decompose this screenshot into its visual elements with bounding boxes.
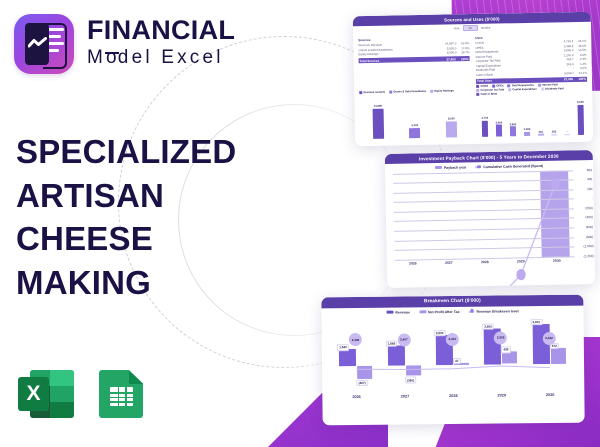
payback-plot-area: 600400200-(200)(400)(600)(800)(1,000)(1,…	[393, 170, 575, 259]
payback-line-series	[393, 170, 576, 288]
bar-column: 9,009	[577, 95, 585, 135]
bar-column: 1,262	[523, 96, 531, 136]
excel-x-glyph: X	[18, 377, 49, 411]
brand-name-line1: FINANCIAL	[87, 17, 235, 44]
legend-payback-year: Payback year	[435, 165, 466, 170]
investment-payback-card[interactable]: Investment Payback Chart ($'000) - 5 Yea…	[385, 150, 596, 288]
bar	[409, 128, 420, 138]
bar	[496, 125, 502, 137]
sources-total-pct: 100%	[456, 57, 469, 61]
y-tick-label: (200)	[585, 206, 593, 210]
page-title-line-4: MAKING	[16, 261, 236, 305]
page-title-line-2: ARTISAN	[16, 174, 236, 218]
legend-item: COGS	[476, 84, 488, 87]
legend-item: Revenue receipts	[359, 86, 385, 97]
bar-value-label: 14,899	[374, 105, 382, 108]
bar-value-label: -	[567, 130, 568, 133]
bar-column: 4,719	[481, 96, 489, 136]
bar	[551, 134, 557, 135]
breakeven-line-series	[332, 317, 576, 425]
legend-cumulative-cash: Cumulative Cash Generated (Spent)	[475, 164, 543, 169]
y-tick-label: (400)	[585, 215, 593, 219]
sources-legend: Revenue receiptsGrants & Debt DrawdownsE…	[359, 85, 470, 98]
legend-item: Interest Paid	[538, 83, 558, 86]
financial-document-chart-icon	[14, 14, 74, 74]
y-tick-label: (1,200)	[584, 254, 594, 258]
y-tick-label: 400	[587, 177, 592, 181]
bar-value-label: 9,009	[577, 101, 584, 104]
bar-column: 3,469	[495, 96, 503, 136]
bar-column: 5,000	[409, 98, 421, 138]
legend-item: Grants & Debt Drawdowns	[389, 86, 426, 98]
filter-value[interactable]: All	[463, 25, 478, 31]
sources-bar-chart: 14,8995,0008,000	[359, 97, 470, 139]
brand-text: FINANCIAL Model Excel	[87, 17, 235, 72]
legend-item: OPEX	[492, 84, 504, 87]
filter-suffix: months	[481, 26, 491, 30]
bar	[482, 121, 488, 137]
bar-column: 464	[537, 95, 544, 135]
brand-logo: FINANCIAL Model Excel	[14, 14, 235, 74]
y-tick-label: (1,000)	[583, 244, 593, 248]
legend-item: Dividends Paid	[541, 87, 564, 90]
bar-value-label: 262	[552, 131, 557, 134]
sources-column: Sources Revenue Receipts14,897.063.9%Gra…	[358, 36, 470, 86]
legend-item: Debt Repayments	[508, 84, 534, 88]
uses-total-value: 27,400	[556, 77, 573, 81]
breakeven-card[interactable]: Breakeven Chart ($'000) Revenue Net Prof…	[321, 295, 584, 426]
bar	[524, 131, 530, 135]
bar	[577, 105, 584, 135]
poster-canvas: FINANCIAL Model Excel SPECIALIZEDARTISAN…	[0, 0, 600, 447]
uses-total-label: Total Uses	[477, 78, 556, 84]
microsoft-excel-icon[interactable]: X	[18, 366, 74, 422]
bar-column: 14,899	[372, 98, 384, 138]
page-title-line-1: SPECIALIZED	[16, 130, 236, 174]
bar	[538, 134, 544, 136]
uses-column: Uses COGS4,719.424.1%OPEX3,468.818.6%Deb…	[475, 34, 587, 84]
uses-legend: COGSOPEXDebt RepaymentsInterest PaidCorp…	[476, 83, 587, 96]
filter-label: Year	[454, 26, 460, 30]
y-tick-label: 600	[587, 168, 592, 172]
legend-item: Capital Expenditure	[508, 88, 537, 92]
brand-line2-suffix: del Excel	[118, 44, 224, 72]
legend-breakeven-level: Revenue Breakeven level	[469, 309, 519, 314]
bar	[446, 121, 457, 137]
sources-and-uses-card[interactable]: Sources and Uses ($'000) Year All months…	[353, 12, 593, 147]
bar-column: 8,000	[445, 97, 457, 137]
bar-column: 262	[550, 95, 557, 135]
bar-value-label: 1,262	[524, 128, 531, 131]
legend-revenue: Revenue	[386, 310, 410, 314]
breakeven-legend: Revenue Net Profit After Tax Revenue Bre…	[321, 306, 583, 316]
y-tick-label: 200	[587, 187, 592, 191]
legend-net-profit: Net Profit After Tax	[419, 309, 460, 313]
y-tick-label: (600)	[586, 225, 594, 229]
y-tick-label: -	[592, 196, 593, 200]
uses-total-pct: 100%	[573, 77, 586, 81]
uses-bar-chart: 4,7193,4692,8921,262464262-9,009	[477, 95, 588, 137]
bar-column: -	[564, 95, 571, 135]
legend-item: Equity Raisings	[430, 85, 454, 96]
bar-value-label: 5,000	[411, 124, 418, 127]
sources-total-value: 27,400	[439, 57, 456, 61]
google-sheets-icon[interactable]	[97, 366, 147, 422]
page-title-line-3: CHEESE	[16, 217, 236, 261]
bar-column: 2,892	[509, 96, 517, 136]
sources-total-row: Total Sources 27,400 100%	[359, 56, 470, 63]
y-tick-label: (800)	[586, 235, 594, 239]
bar	[510, 126, 516, 136]
brand-name-line2: Model Excel	[87, 44, 235, 72]
legend-item: Cash in Bank	[476, 92, 497, 95]
breakeven-plot-area: 1,540(467)2,4381,848(390)2,4072,833472,4…	[332, 317, 575, 392]
brand-line2-prefix: M	[87, 44, 106, 72]
brand-o-glyph: o	[106, 44, 118, 72]
format-icons: X	[18, 366, 147, 422]
sources-total-label: Total Sources	[360, 57, 439, 63]
bar-value-label: 8,000	[448, 117, 455, 120]
page-title: SPECIALIZEDARTISANCHEESEMAKING	[16, 130, 236, 304]
bar	[372, 108, 384, 138]
legend-item: Corporate Tax Paid	[476, 88, 504, 92]
bar	[564, 134, 570, 135]
payback-y-axis: 600400200-(200)(400)(600)(800)(1,000)(1,…	[574, 170, 594, 256]
